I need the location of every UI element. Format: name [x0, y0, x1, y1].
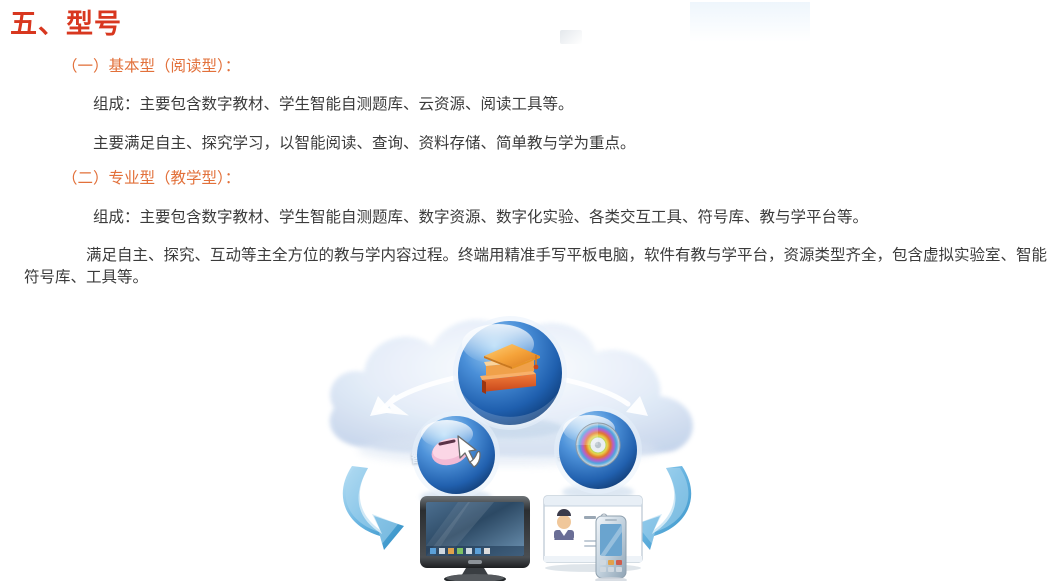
node-resources: [554, 406, 642, 500]
lcd-monitor-icon: [420, 496, 530, 581]
cloud-architecture-diagram: [308, 300, 728, 581]
document-body: 五、型号 （一）基本型（阅读型）： 组成：主要包含数字教材、学生智能自测题库、云…: [0, 0, 1060, 288]
section-title-2: （二）专业型（教学型）：: [0, 168, 1060, 190]
section-2-paragraph-1: 组成：主要包含数字教材、学生智能自测题库、数字资源、数字化实验、各类交互工具、符…: [0, 206, 1060, 228]
node-quiz-bank: [412, 411, 500, 505]
paragraph-text: 主要满足自主、探究学习，以智能阅读、查询、资料存储、简单教与学为重点。: [93, 134, 636, 152]
paragraph-text: 组成：主要包含数字教材、学生智能自测题库、数字资源、数字化实验、各类交互工具、符…: [93, 208, 868, 226]
section-1-paragraph-2: 主要满足自主、探究学习，以智能阅读、查询、资料存储、简单教与学为重点。: [0, 132, 1060, 154]
paragraph-text: 组成：主要包含数字教材、学生智能自测题库、云资源、阅读工具等。: [93, 95, 574, 113]
section-title-1: （一）基本型（阅读型）：: [0, 56, 1060, 78]
section-2-paragraph-2: 满足自主、探究、互动等主全方位的教与学内容过程。终端用精准手写平板电脑，软件有教…: [0, 244, 1060, 289]
cd-disc-icon: [576, 423, 620, 467]
curved-arrow-down-left-icon: [343, 466, 404, 550]
user-profile-window-icon: [544, 496, 642, 572]
page-title: 五、型号: [0, 0, 1060, 42]
paragraph-text: 满足自主、探究、互动等主全方位的教与学内容过程。终端用精准手写平板电脑，软件有教…: [24, 246, 1047, 286]
section-1-paragraph-1: 组成：主要包含数字教材、学生智能自测题库、云资源、阅读工具等。: [0, 93, 1060, 115]
mobile-phone-icon: [595, 516, 627, 581]
